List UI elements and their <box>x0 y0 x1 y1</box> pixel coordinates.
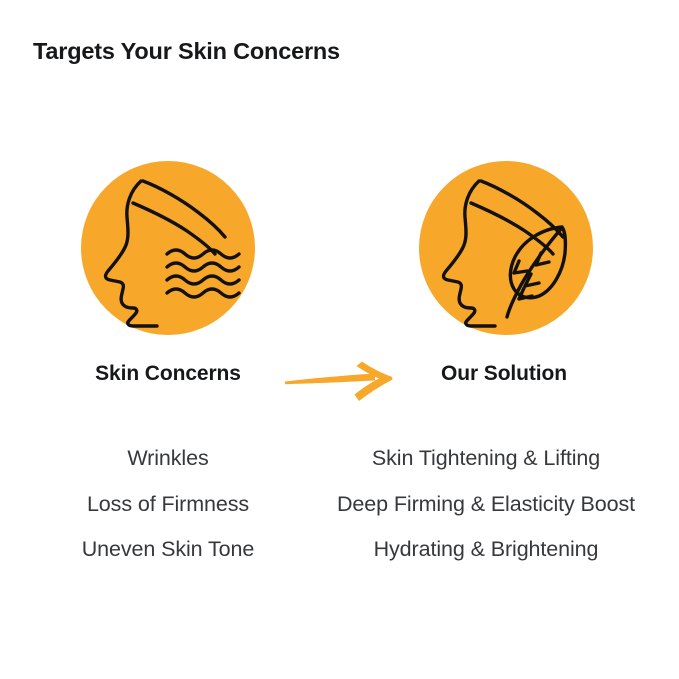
infographic-page: Targets Your Skin Concerns <box>0 0 679 679</box>
list-item: Deep Firming & Elasticity Boost <box>306 482 666 528</box>
list-item: Wrinkles <box>8 436 328 482</box>
arrow-right-icon <box>283 358 397 404</box>
face-feather-icon <box>419 161 593 335</box>
concerns-list: Wrinkles Loss of Firmness Uneven Skin To… <box>8 436 328 573</box>
column-heading-concerns: Skin Concerns <box>53 362 283 386</box>
list-item: Uneven Skin Tone <box>8 527 328 573</box>
page-title: Targets Your Skin Concerns <box>33 38 340 65</box>
list-item: Loss of Firmness <box>8 482 328 528</box>
face-wrinkles-icon <box>81 161 255 335</box>
list-item: Hydrating & Brightening <box>306 527 666 573</box>
list-item: Skin Tightening & Lifting <box>306 436 666 482</box>
solutions-list: Skin Tightening & Lifting Deep Firming &… <box>306 436 666 573</box>
column-heading-solution: Our Solution <box>389 362 619 386</box>
